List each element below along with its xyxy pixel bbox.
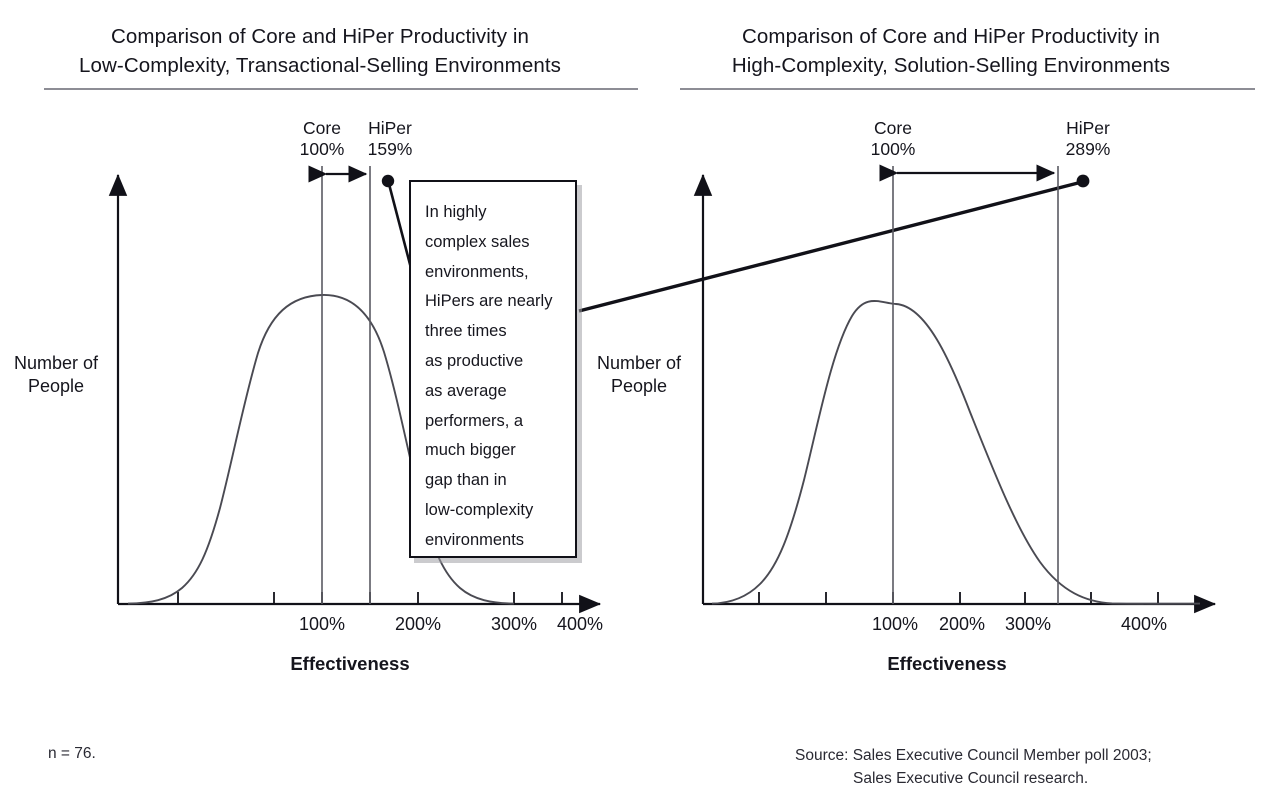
left-x-axis-title: Effectiveness	[260, 653, 440, 675]
right-title-line2: High-Complexity, Solution-Selling Enviro…	[640, 51, 1262, 80]
callout-line-6: as average	[425, 377, 565, 407]
right-chart-title: Comparison of Core and HiPer Productivit…	[640, 22, 1262, 80]
source-note-line2: Sales Executive Council research.	[795, 767, 1152, 790]
left-y-axis-title-line1: Number of	[14, 353, 98, 373]
callout-line-3: HiPers are nearly	[425, 287, 565, 317]
left-title-divider	[44, 88, 638, 90]
right-x-axis-title: Effectiveness	[857, 653, 1037, 675]
right-core-label-name: Core	[874, 118, 912, 138]
callout-line-1: complex sales	[425, 228, 565, 258]
callout-line-4: three times	[425, 317, 565, 347]
right-title-line1: Comparison of Core and HiPer Productivit…	[742, 25, 1160, 48]
callout-line-5: as productive	[425, 347, 565, 377]
right-xtick-label-3: 400%	[1104, 614, 1184, 635]
sample-size-note: n = 76.	[48, 745, 96, 763]
callout-line-11: environments	[425, 526, 565, 556]
left-xtick-label-3: 400%	[540, 614, 620, 635]
annotation-callout-box: In highly complex sales environments, Hi…	[409, 180, 577, 558]
left-xtick-label-1: 200%	[378, 614, 458, 635]
left-title-line2: Low-Complexity, Transactional-Selling En…	[0, 51, 640, 80]
left-xtick-label-0: 100%	[282, 614, 362, 635]
left-chart-title: Comparison of Core and HiPer Productivit…	[0, 22, 640, 80]
callout-line-8: much bigger	[425, 436, 565, 466]
callout-line-0: In highly	[425, 198, 565, 228]
left-hiper-label: HiPer 159%	[330, 118, 450, 160]
left-y-axis-title: Number of People	[0, 352, 112, 398]
callout-line-10: low-complexity	[425, 496, 565, 526]
left-title-line1: Comparison of Core and HiPer Productivit…	[111, 25, 529, 48]
callout-line-2: environments,	[425, 258, 565, 288]
right-xtick-label-2: 300%	[988, 614, 1068, 635]
source-note-line1: Source: Sales Executive Council Member p…	[795, 747, 1152, 764]
left-hiper-label-name: HiPer	[368, 118, 412, 138]
right-hiper-label-value: 289%	[1028, 139, 1148, 160]
right-y-axis-title-line2: People	[611, 376, 667, 396]
right-core-label: Core 100%	[833, 118, 953, 160]
right-core-label-value: 100%	[833, 139, 953, 160]
left-hiper-label-value: 159%	[330, 139, 450, 160]
right-title-divider	[680, 88, 1255, 90]
callout-line-7: performers, a	[425, 407, 565, 437]
left-y-axis-title-line2: People	[28, 376, 84, 396]
callout-line-9: gap than in	[425, 466, 565, 496]
right-hiper-label: HiPer 289%	[1028, 118, 1148, 160]
right-hiper-label-name: HiPer	[1066, 118, 1110, 138]
source-note: Source: Sales Executive Council Member p…	[795, 744, 1152, 790]
right-y-axis-title-line1: Number of	[597, 353, 681, 373]
right-y-axis-title: Number of People	[583, 352, 695, 398]
